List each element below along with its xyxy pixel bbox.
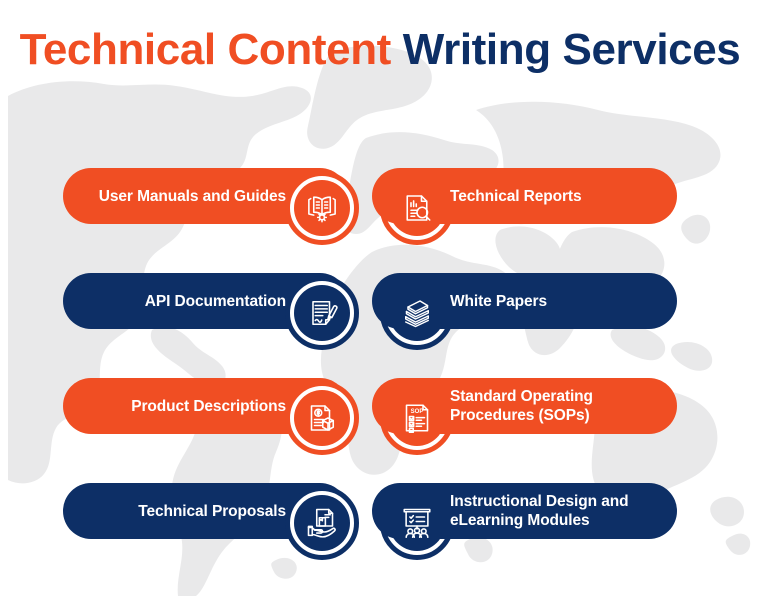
- service-row-3: Product Descriptions: [0, 378, 760, 458]
- service-row-4: Technical Proposals: [0, 483, 760, 563]
- infographic-canvas: Technical Content Writing Services User …: [0, 0, 760, 600]
- page-title-part-2: Writing Services: [403, 25, 741, 74]
- service-label: Technical Proposals: [138, 502, 286, 521]
- service-row-1: User Manuals and Guides: [0, 168, 760, 248]
- infographic-content: Technical Content Writing Services User …: [0, 0, 760, 600]
- open-book-gear-icon: [285, 171, 359, 245]
- service-label: API Documentation: [145, 292, 286, 311]
- service-label: White Papers: [450, 292, 547, 311]
- hand-holding-document-icon: [285, 486, 359, 560]
- page-title: Technical Content Writing Services: [0, 22, 760, 77]
- page-title-part-1: Technical Content: [20, 25, 403, 74]
- service-label: Technical Reports: [450, 187, 582, 206]
- document-pen-signature-icon: [285, 276, 359, 350]
- service-label: Instructional Design and eLearning Modul…: [450, 492, 677, 530]
- service-label: User Manuals and Guides: [99, 187, 286, 206]
- service-label: Standard Operating Procedures (SOPs): [450, 387, 677, 425]
- service-label: Product Descriptions: [131, 397, 286, 416]
- service-row-2: API Documentation: [0, 273, 760, 353]
- svg-text:SOP: SOP: [411, 409, 424, 415]
- price-document-box-icon: [285, 381, 359, 455]
